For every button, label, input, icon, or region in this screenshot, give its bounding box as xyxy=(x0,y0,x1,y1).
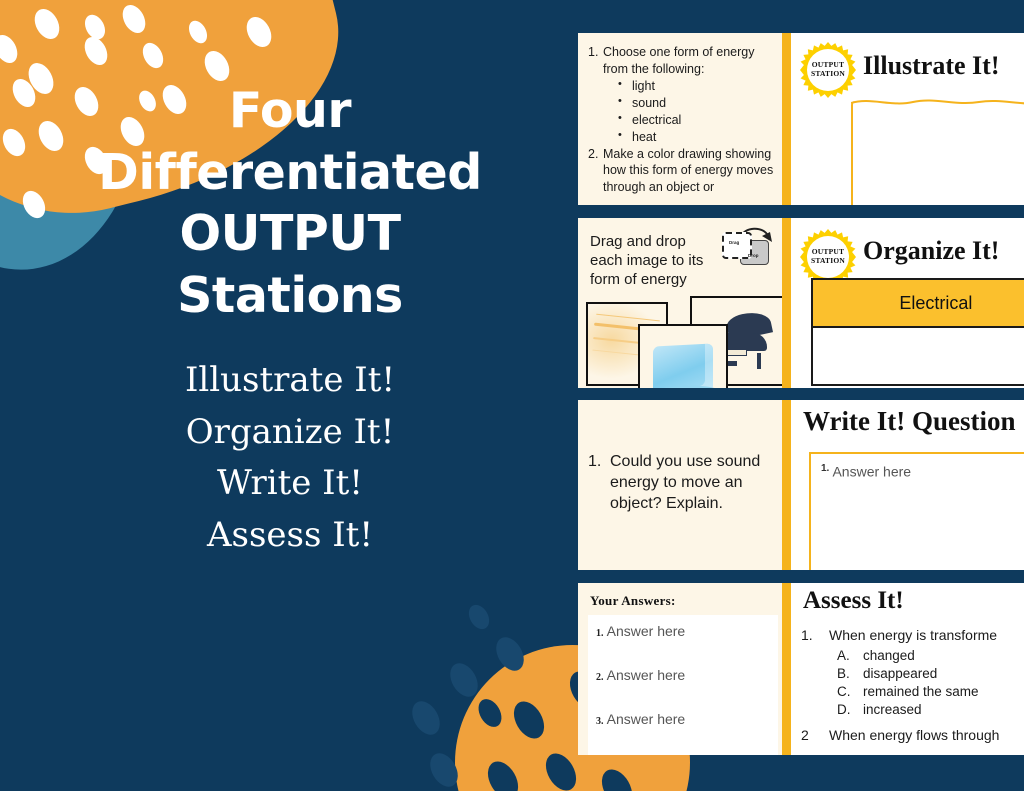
title-line-1: Four xyxy=(40,80,540,142)
station-list-item-illustrate: Illustrate It! xyxy=(40,355,540,407)
slide-card-4-content-pane: Assess It! 1. When energy is transforme … xyxy=(791,583,1024,755)
slide-card-3-content-pane: Write It! Question 1. Answer here xyxy=(791,400,1024,570)
badge-line-2: STATION xyxy=(811,70,845,79)
card-4-heading: Assess It! xyxy=(803,587,904,615)
choice-text: increased xyxy=(863,701,922,719)
sublist-item-light: light xyxy=(616,78,774,95)
instruction-text: Choose one form of energy from the follo… xyxy=(603,44,774,77)
drag-label: Drag xyxy=(729,240,739,245)
instruction-item-2: 2. Make a color drawing showing how this… xyxy=(588,146,774,196)
title-line-4: Stations xyxy=(40,265,540,327)
table-header-electrical: Electrical xyxy=(812,279,1024,327)
title-line-2: Differentiated xyxy=(40,142,540,204)
station-list-item-write: Write It! xyxy=(40,458,540,510)
choice-d[interactable]: D. increased xyxy=(837,701,979,719)
instruction-number: 1. xyxy=(588,44,603,77)
instruction-number: 2. xyxy=(588,146,603,196)
slide-card-1-content-pane: OUTPUT STATION Illustrate It! xyxy=(791,33,1024,205)
sublist-item-sound: sound xyxy=(616,95,774,112)
energy-sort-table: Electrical Sound xyxy=(811,278,1024,386)
answer-placeholder-text: Answer here xyxy=(832,464,911,480)
title-column: Four Differentiated OUTPUT Stations Illu… xyxy=(40,80,540,562)
choice-key: A. xyxy=(837,647,863,665)
question-number: 1. xyxy=(588,452,610,514)
output-station-badge-icon: OUTPUT STATION xyxy=(800,229,856,285)
question-text: When energy is transforme xyxy=(829,627,997,643)
question-number: 1. xyxy=(801,627,829,643)
card-2-heading: Organize It! xyxy=(863,236,999,266)
assess-question-2: 2 When energy flows through xyxy=(801,727,999,743)
sublist-item-electrical: electrical xyxy=(616,112,774,129)
slide-card-assess-it[interactable]: Your Answers: 1. Answer here 2. Answer h… xyxy=(578,583,1024,755)
choice-key: C. xyxy=(837,683,863,701)
question-number: 2 xyxy=(801,727,829,743)
answer-text-box[interactable]: 1. Answer here xyxy=(809,452,1024,570)
slide-card-illustrate-it[interactable]: 1. Choose one form of energy from the fo… xyxy=(578,33,1024,205)
answer-text: Answer here xyxy=(607,623,686,639)
energy-image-row xyxy=(582,296,782,388)
output-station-badge-icon: OUTPUT STATION xyxy=(800,42,856,98)
title-line-3: OUTPUT xyxy=(40,203,540,265)
drag-and-drop-icon: Drag Drop xyxy=(720,226,776,266)
ice-cube-image[interactable] xyxy=(638,324,728,388)
answer-number: 1. xyxy=(821,463,829,474)
card-3-heading: Write It! Question xyxy=(803,406,1015,437)
card-3-accent-strip xyxy=(782,400,791,570)
answer-number: 2. xyxy=(596,672,604,683)
drop-label: Drop xyxy=(748,253,759,258)
card-1-heading: Illustrate It! xyxy=(863,51,999,81)
slide-card-organize-it[interactable]: Drag and drop each image to its form of … xyxy=(578,218,1024,388)
badge-label: OUTPUT STATION xyxy=(807,49,849,91)
assess-question-1: 1. When energy is transforme xyxy=(801,627,997,643)
station-list: Illustrate It! Organize It! Write It! As… xyxy=(40,355,540,562)
answer-choices: A. changed B. disappeared C. remained th… xyxy=(837,647,979,719)
your-answers-title: Your Answers: xyxy=(578,583,782,609)
answers-white-area: 1. Answer here 2. Answer here 3. Answer … xyxy=(588,615,778,755)
answer-placeholder-row: 1. Answer here xyxy=(821,463,911,480)
sublist-item-heat: heat xyxy=(616,129,774,146)
page-title: Four Differentiated OUTPUT Stations xyxy=(40,80,540,327)
slide-card-3-instructions-pane: 1. Could you use sound energy to move an… xyxy=(578,400,782,570)
station-list-item-organize: Organize It! xyxy=(40,407,540,459)
badge-label: OUTPUT STATION xyxy=(807,236,849,278)
card-4-accent-strip xyxy=(782,583,791,755)
answer-row-2[interactable]: 2. Answer here xyxy=(596,667,685,683)
poster-canvas: Four Differentiated OUTPUT Stations Illu… xyxy=(0,0,1024,791)
slide-card-2-instructions-pane: Drag and drop each image to its form of … xyxy=(578,218,782,388)
choice-text: remained the same xyxy=(863,683,979,701)
choice-a[interactable]: A. changed xyxy=(837,647,979,665)
card-1-accent-strip xyxy=(782,33,791,205)
answer-number: 3. xyxy=(596,716,604,727)
instruction-item-1: 1. Choose one form of energy from the fo… xyxy=(588,44,774,77)
choice-key: B. xyxy=(837,665,863,683)
choice-key: D. xyxy=(837,701,863,719)
choice-b[interactable]: B. disappeared xyxy=(837,665,979,683)
table-cell-electrical[interactable] xyxy=(812,327,1024,385)
instruction-text: Make a color drawing showing how this fo… xyxy=(603,146,774,196)
drag-drop-prompt: Drag and drop each image to its form of … xyxy=(578,218,716,290)
slide-preview-stack: 1. Choose one form of energy from the fo… xyxy=(578,0,1024,791)
station-list-item-assess: Assess It! xyxy=(40,510,540,562)
slide-card-write-it[interactable]: 1. Could you use sound energy to move an… xyxy=(578,400,1024,570)
energy-form-sublist: light sound electrical heat xyxy=(588,78,774,146)
answer-number: 1. xyxy=(596,628,604,639)
answer-row-1[interactable]: 1. Answer here xyxy=(596,623,685,639)
table-header-row: Electrical Sound xyxy=(812,279,1024,327)
choice-text: changed xyxy=(863,647,915,665)
write-it-question: 1. Could you use sound energy to move an… xyxy=(578,400,782,514)
answer-row-3[interactable]: 3. Answer here xyxy=(596,711,685,727)
answer-text: Answer here xyxy=(607,711,686,727)
slide-card-2-content-pane: OUTPUT STATION Organize It! Electrical S… xyxy=(791,218,1024,388)
choice-c[interactable]: C. remained the same xyxy=(837,683,979,701)
instruction-list: 1. Choose one form of energy from the fo… xyxy=(578,33,782,196)
card-2-accent-strip xyxy=(782,218,791,388)
question-text: Could you use sound energy to move an ob… xyxy=(610,452,772,514)
choice-text: disappeared xyxy=(863,665,937,683)
badge-line-2: STATION xyxy=(811,257,845,266)
drawing-area-box[interactable] xyxy=(851,101,1024,205)
slide-card-4-answers-pane: Your Answers: 1. Answer here 2. Answer h… xyxy=(578,583,782,755)
question-text: When energy flows through xyxy=(829,727,999,743)
answer-text: Answer here xyxy=(607,667,686,683)
table-row xyxy=(812,327,1024,385)
slide-card-1-instructions-pane: 1. Choose one form of energy from the fo… xyxy=(578,33,782,205)
